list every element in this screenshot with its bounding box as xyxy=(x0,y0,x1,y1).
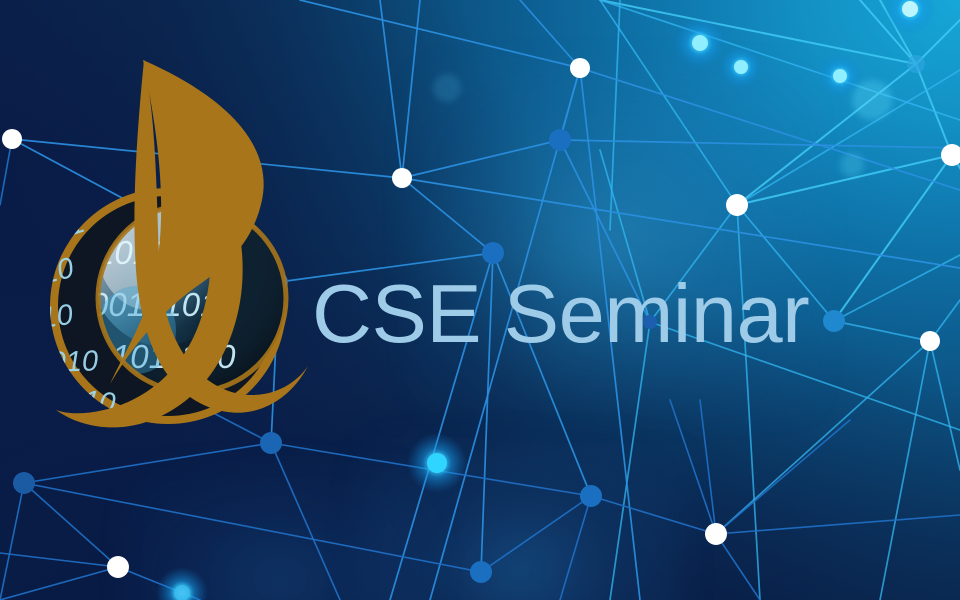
svg-text:10: 10 xyxy=(40,299,75,335)
seminar-banner: 11 10 10 010 010 01010 101 1010110 xyxy=(0,0,960,600)
page-title: CSE Seminar xyxy=(312,272,809,355)
cse-flame-binary-logo: 11 10 10 010 010 01010 101 1010110 xyxy=(40,48,330,448)
cse-logo: 11 10 10 010 010 01010 101 1010110 xyxy=(40,48,330,448)
svg-text:010: 010 xyxy=(49,345,98,379)
